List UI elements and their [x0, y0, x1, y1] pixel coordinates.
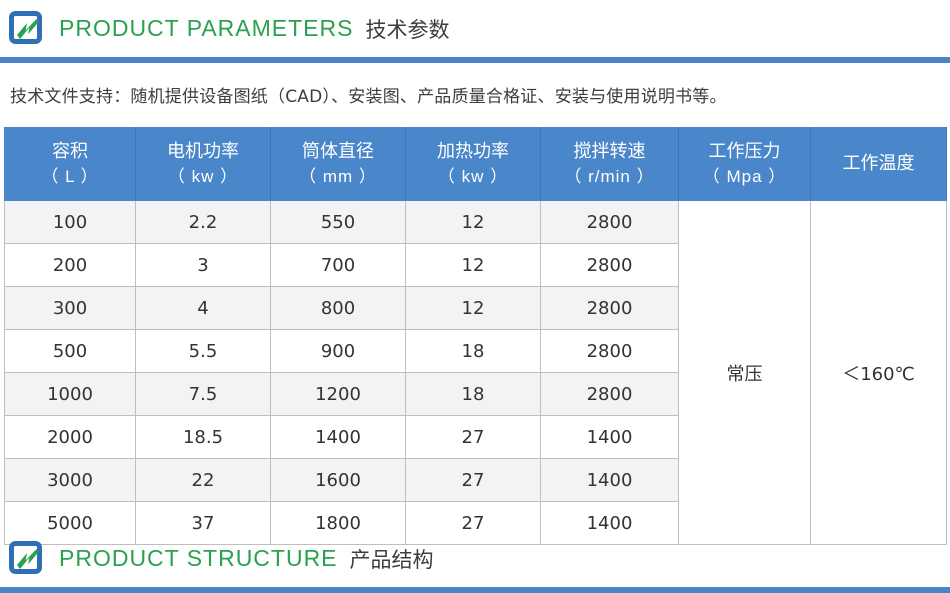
column-header-unit: （ Mpa ） [680, 165, 809, 189]
cell-motor-power: 18.5 [136, 416, 271, 459]
zigzag-arrow-logo-icon [9, 11, 45, 47]
column-header-heating-power: 加热功率 （ kw ） [406, 128, 541, 201]
column-header-name: 容积 [52, 141, 88, 162]
specifications-table: 容积 （ L ） 电机功率 （ kw ） 筒体直径 （ mm ） 加热功率 （ … [4, 127, 947, 545]
column-header-working-pressure: 工作压力 （ Mpa ） [679, 128, 811, 201]
spec-table-container: 容积 （ L ） 电机功率 （ kw ） 筒体直径 （ mm ） 加热功率 （ … [4, 127, 946, 545]
cell-stirring-speed: 2800 [541, 244, 679, 287]
column-header-name: 筒体直径 [302, 141, 374, 162]
section-heading-parameters: PRODUCT PARAMETERS 技术参数 [0, 0, 950, 63]
product-parameters-page: PRODUCT PARAMETERS 技术参数 技术文件支持：随机提供设备图纸（… [0, 0, 950, 593]
cell-shell-diameter: 550 [271, 201, 406, 244]
table-body: 100 2.2 550 12 2800 常压 ＜160℃ 200 3 700 1… [5, 201, 947, 545]
cell-stirring-speed: 2800 [541, 201, 679, 244]
column-header-name: 加热功率 [437, 141, 509, 162]
column-header-unit: （ kw ） [407, 165, 539, 189]
cell-working-pressure-merged: 常压 [679, 201, 811, 545]
cell-volume: 100 [5, 201, 136, 244]
cell-heating-power: 18 [406, 330, 541, 373]
column-header-name: 搅拌转速 [574, 141, 646, 162]
cell-heating-power: 18 [406, 373, 541, 416]
heading-title-en: PRODUCT PARAMETERS [59, 15, 353, 42]
column-header-shell-diameter: 筒体直径 （ mm ） [271, 128, 406, 201]
table-header-row: 容积 （ L ） 电机功率 （ kw ） 筒体直径 （ mm ） 加热功率 （ … [5, 128, 947, 201]
cell-motor-power: 4 [136, 287, 271, 330]
cell-heating-power: 12 [406, 287, 541, 330]
cell-stirring-speed: 2800 [541, 330, 679, 373]
cell-stirring-speed: 1400 [541, 416, 679, 459]
column-header-unit: （ r/min ） [542, 165, 677, 189]
cell-heating-power: 12 [406, 201, 541, 244]
column-header-name: 工作压力 [709, 141, 781, 162]
section-heading-structure: PRODUCT STRUCTURE 产品结构 [0, 530, 950, 593]
cell-volume: 300 [5, 287, 136, 330]
column-header-unit: （ mm ） [272, 165, 404, 189]
zigzag-arrow-logo-icon [9, 541, 45, 577]
heading-title-en: PRODUCT STRUCTURE [59, 545, 338, 572]
cell-motor-power: 7.5 [136, 373, 271, 416]
cell-shell-diameter: 1200 [271, 373, 406, 416]
column-header-stirring-speed: 搅拌转速 （ r/min ） [541, 128, 679, 201]
cell-working-temperature-merged: ＜160℃ [811, 201, 947, 545]
cell-stirring-speed: 1400 [541, 459, 679, 502]
cell-motor-power: 5.5 [136, 330, 271, 373]
cell-heating-power: 12 [406, 244, 541, 287]
heading-row: PRODUCT PARAMETERS 技术参数 [0, 0, 950, 57]
cell-stirring-speed: 2800 [541, 287, 679, 330]
cell-stirring-speed: 2800 [541, 373, 679, 416]
cell-shell-diameter: 1400 [271, 416, 406, 459]
cell-shell-diameter: 1600 [271, 459, 406, 502]
column-header-name: 工作温度 [843, 153, 915, 174]
column-header-unit: （ L ） [6, 165, 134, 189]
heading-divider [0, 587, 950, 593]
heading-title-cn: 技术参数 [365, 14, 449, 44]
heading-row: PRODUCT STRUCTURE 产品结构 [0, 530, 950, 587]
cell-volume: 2000 [5, 416, 136, 459]
cell-volume: 200 [5, 244, 136, 287]
intro-paragraph: 技术文件支持：随机提供设备图纸（CAD）、安装图、产品质量合格证、安装与使用说明… [10, 82, 727, 107]
cell-volume: 3000 [5, 459, 136, 502]
cell-shell-diameter: 900 [271, 330, 406, 373]
cell-heating-power: 27 [406, 416, 541, 459]
column-header-volume: 容积 （ L ） [5, 128, 136, 201]
column-header-motor-power: 电机功率 （ kw ） [136, 128, 271, 201]
column-header-name: 电机功率 [167, 141, 239, 162]
cell-volume: 500 [5, 330, 136, 373]
heading-title-cn: 产品结构 [350, 544, 434, 574]
column-header-unit: （ kw ） [137, 165, 269, 189]
column-header-working-temperature: 工作温度 [811, 128, 947, 201]
cell-motor-power: 3 [136, 244, 271, 287]
heading-divider [0, 57, 950, 63]
cell-heating-power: 27 [406, 459, 541, 502]
cell-shell-diameter: 700 [271, 244, 406, 287]
cell-volume: 1000 [5, 373, 136, 416]
cell-motor-power: 22 [136, 459, 271, 502]
cell-motor-power: 2.2 [136, 201, 271, 244]
table-header: 容积 （ L ） 电机功率 （ kw ） 筒体直径 （ mm ） 加热功率 （ … [5, 128, 947, 201]
cell-shell-diameter: 800 [271, 287, 406, 330]
table-row: 100 2.2 550 12 2800 常压 ＜160℃ [5, 201, 947, 244]
